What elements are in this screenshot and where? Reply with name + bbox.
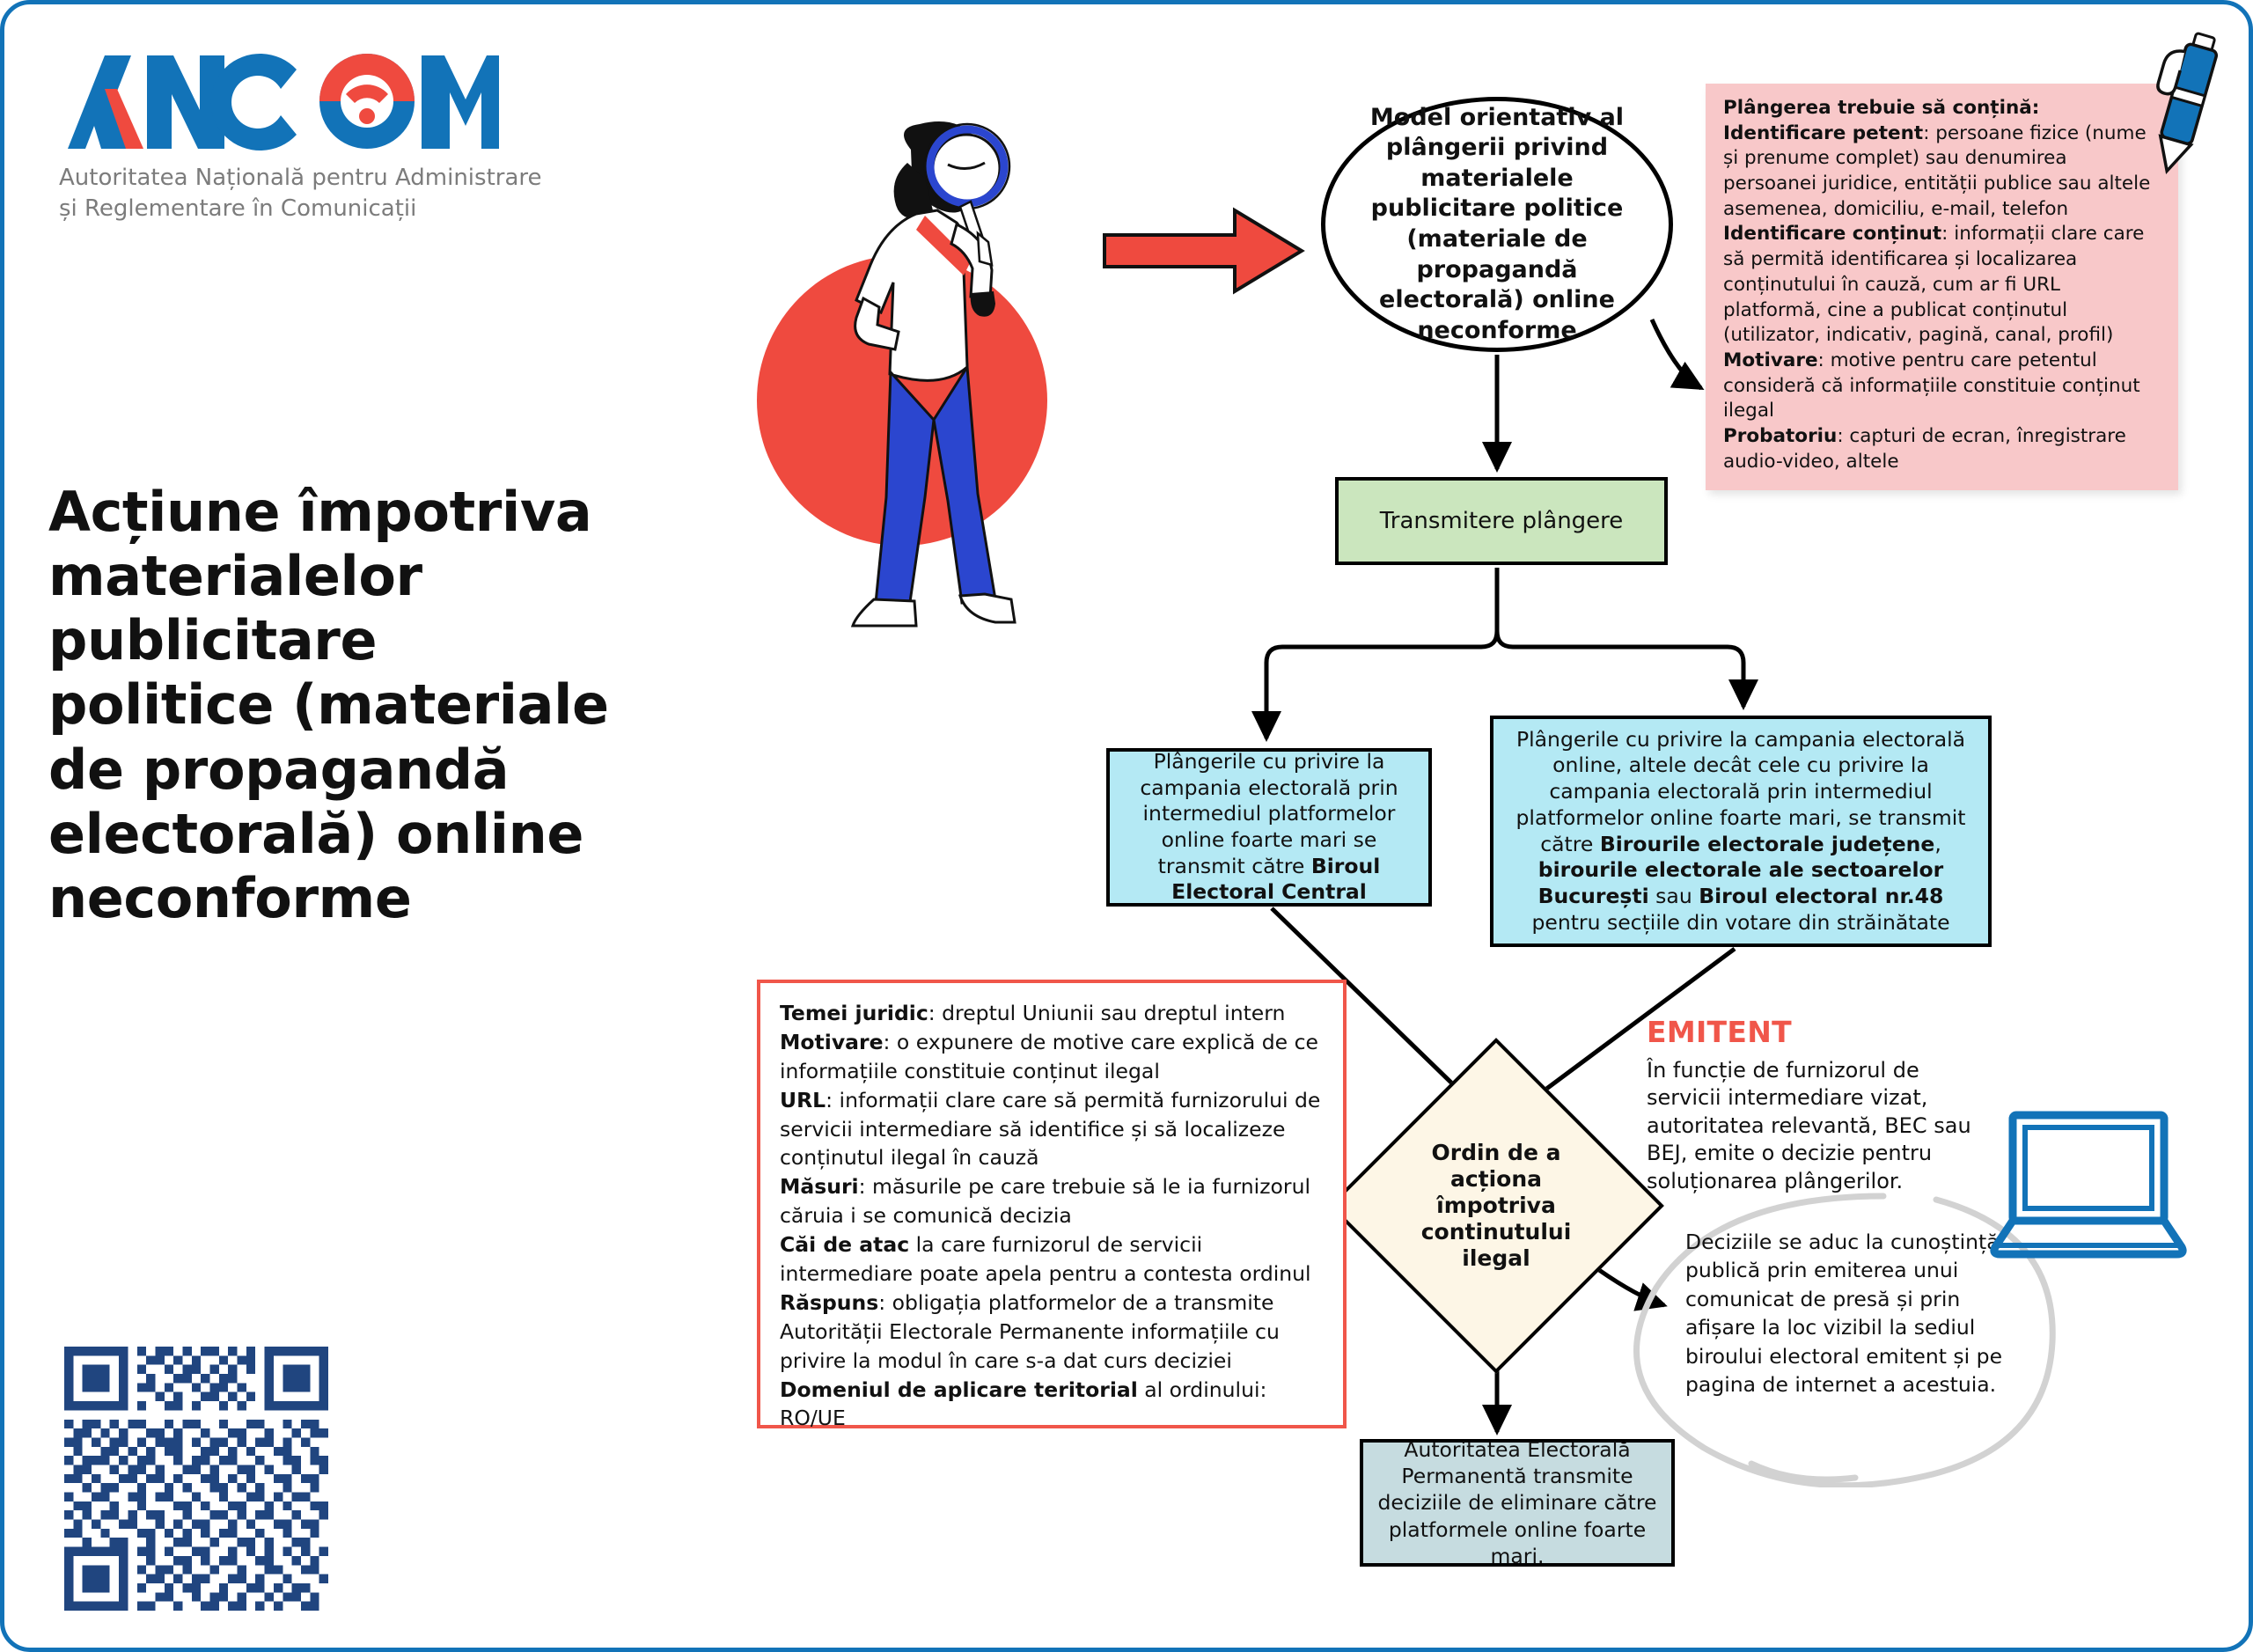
pink-note-item: Identificare petent: persoane fizice (nu… (1723, 121, 2161, 223)
infographic-canvas: Autoritatea Națională pentru Administrar… (0, 0, 2253, 1652)
decision-label: Ordin de a acționa împotriva continutulu… (1377, 1087, 1615, 1325)
order-item: URL: informații clare care să permită fu… (780, 1086, 1324, 1173)
order-item: Temei juridic: dreptul Uniunii sau drept… (780, 999, 1324, 1028)
complaint-requirements-note: Plângerea trebuie să conțină: Identifica… (1706, 84, 2178, 490)
pen-svg (2134, 24, 2249, 187)
flow-branch-right-node[interactable]: Plângerile cu privire la campania electo… (1490, 716, 1992, 947)
order-item: Răspuns: obligația platformelor de a tra… (780, 1289, 1324, 1376)
emitent-description: În funcție de furnizorul de servicii int… (1647, 1057, 1999, 1195)
branch-right-text-4: pentru secțiile din votare din străinăta… (1531, 910, 1949, 935)
order-item: Căi de atac la care furnizorul de servic… (780, 1230, 1324, 1289)
flow-decision-node[interactable]: Ordin de a acționa împotriva continutulu… (1377, 1087, 1615, 1325)
emitent-heading: EMITENT (1647, 1015, 1792, 1049)
order-item: Măsuri: măsurile pe care trebuie să le i… (780, 1172, 1324, 1230)
laptop-svg (1985, 1105, 2205, 1272)
flow-transmit-node[interactable]: Transmitere plângere (1335, 477, 1668, 565)
publication-note-text: Deciziile se aduc la cunoștință publică … (1685, 1228, 2015, 1399)
order-requirements-box: Temei juridic: dreptul Uniunii sau drept… (757, 980, 1347, 1428)
order-item: Motivare: o expunere de motive care expl… (780, 1028, 1324, 1086)
pink-note-item: Motivare: motive pentru care petentul co… (1723, 349, 2161, 424)
flow-transmit-label: Transmitere plângere (1380, 508, 1624, 534)
pink-note-item: Identificare conținut: informații clare … (1723, 222, 2161, 348)
flow-start-label: Model orientativ al plângerii privind ma… (1355, 103, 1639, 346)
flow-final-node[interactable]: Autoritatea Electorală Permanentă transm… (1360, 1439, 1675, 1567)
pink-note-heading: Plângerea trebuie să conțină: (1723, 96, 2161, 121)
pen-icon (2134, 24, 2249, 187)
flow-branch-left-node[interactable]: Plângerile cu privire la campania electo… (1106, 748, 1432, 907)
laptop-icon (1985, 1105, 2205, 1272)
branch-right-authority-1: Birourile electorale județene (1600, 832, 1935, 856)
flow-branch-left-label: Plângerile cu privire la campania electo… (1119, 749, 1420, 906)
flow-final-label: Autoritatea Electorală Permanentă transm… (1374, 1436, 1661, 1568)
branch-right-authority-3: Biroul electoral nr.48 (1699, 884, 1943, 908)
flow-branch-right-label: Plângerile cu privire la campania electo… (1506, 727, 1976, 936)
pink-note-item: Probatoriu: capturi de ecran, înregistra… (1723, 424, 2161, 474)
branch-right-text-3: sau (1649, 884, 1699, 908)
branch-right-text-2: , (1934, 832, 1941, 856)
order-item: Domeniul de aplicare teritorial al ordin… (780, 1376, 1324, 1434)
flow-start-node[interactable]: Model orientativ al plângerii privind ma… (1321, 97, 1673, 352)
